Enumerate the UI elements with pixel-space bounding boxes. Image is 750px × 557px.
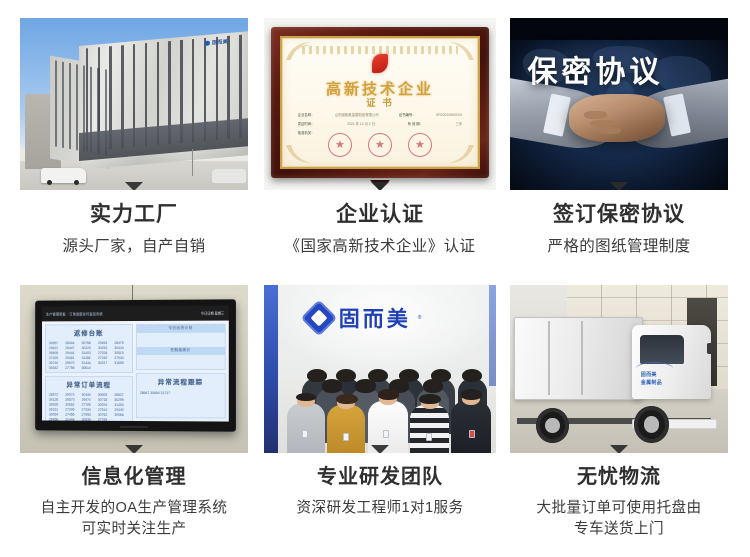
person-hair [336, 394, 357, 404]
feature-subtitle: 源头厂家，自产自销 [20, 236, 248, 258]
oa-cell: 27152 [98, 356, 112, 360]
cab-window [640, 335, 684, 365]
cert-field-label: 发证时间： [298, 120, 315, 129]
oa-cell: 31444 [81, 361, 95, 365]
cert-field-value: 2021 年 12 月 2 日 [347, 120, 375, 129]
oa-right-column: 今日出货计划 在制品统计 异常流程跟踪 28647 30694 31717 [135, 324, 225, 419]
cert-field-value: 山东固而美金属制品有限公司 [335, 111, 379, 120]
person-front [327, 405, 365, 453]
oa-cell: 30317 [98, 361, 112, 365]
oa-cell: 27514 [98, 408, 112, 412]
feature-subtitle: 自主开发的OA生产管理系统 可实时关注生产 [20, 498, 248, 540]
seal-star-icon: ★ [408, 133, 432, 157]
photo-certificate-plaque: 高新技术企业 证 书 企业名称： 山东固而美金属制品有限公司 证书编号： GR2… [264, 18, 496, 190]
photo-team-group: 固而美 ® [264, 285, 496, 453]
oa-panel-title: 异常订单流程 [46, 377, 132, 391]
certificate-subtitle: 证 书 [282, 95, 478, 109]
brand-name-text: 固而美 [339, 303, 411, 333]
wall-monitor-bezel: 生产管理看板 · 订单进度实时监控系统 今日日期 星期三 返修台账 30657 … [35, 299, 235, 431]
oa-header-left: 生产管理看板 · 订单进度实时监控系统 [46, 311, 103, 316]
oa-cell: 27765 [81, 403, 95, 407]
nda-scene: 保密协议 [510, 18, 728, 190]
person-hair [462, 369, 482, 383]
person-hair [423, 379, 443, 393]
oa-cell: 30161 [49, 408, 63, 412]
oa-side-bar: 在制品统计 [136, 347, 224, 355]
oa-panel-rework: 返修台账 30657 28444 30758 29453 28479 29521 [45, 324, 133, 373]
oa-cell: 30519 [114, 351, 129, 355]
oa-panel-side-bottom: 异常流程跟踪 28647 30694 31717 [135, 373, 225, 419]
building-logo: 固而美 [205, 38, 228, 47]
id-badge [469, 430, 475, 438]
photo-wall-monitor-oa: 生产管理看板 · 订单进度实时监控系统 今日日期 星期三 返修台账 30657 … [20, 285, 248, 453]
brand-mark-icon [300, 300, 337, 337]
handshake-hands [569, 94, 665, 142]
person-hair [296, 393, 316, 401]
oa-cell: 30758 [81, 341, 95, 345]
side-mirror [707, 343, 712, 354]
caption-block: 信息化管理 自主开发的OA生产管理系统 可实时关注生产 [20, 453, 248, 540]
seal-star-icon: ★ [368, 133, 392, 157]
feature-title: 实力工厂 [20, 201, 248, 229]
monitor-base [120, 426, 148, 428]
feature-title: 信息化管理 [20, 464, 248, 491]
person-front [287, 403, 325, 453]
monitor-screen: 生产管理看板 · 订单进度实时监控系统 今日日期 星期三 返修台账 30657 … [42, 306, 228, 422]
oa-cell: 30444 [114, 346, 129, 350]
oa-cell: 27955 [81, 413, 95, 417]
oa-cell: 30440 [81, 393, 95, 397]
oa-cell: 30935 [49, 403, 63, 407]
oa-cell: 30253 [98, 346, 112, 350]
wheel-front [634, 406, 669, 443]
person-front [410, 405, 448, 453]
oa-data-grid: 30657 28444 30758 29453 28479 29521 2944… [46, 339, 132, 372]
building-wall-mark: c3 [198, 121, 209, 133]
oa-cell: 31444 [65, 418, 79, 422]
photo-delivery-truck: 固而美 金属制品 [510, 285, 728, 453]
feature-title: 专业研发团队 [264, 464, 496, 491]
certificate-scene: 高新技术企业 证 书 企业名称： 山东固而美金属制品有限公司 证书编号： GR2… [264, 18, 496, 190]
oa-cell: 30054 [49, 413, 63, 417]
oa-cell: 27756 [65, 366, 79, 370]
oa-cell: 30005 [98, 393, 112, 397]
oa-cell: 30342 [49, 366, 63, 370]
oa-cell: 29481 [65, 356, 79, 360]
oa-cell: 28479 [114, 341, 129, 345]
cert-field-value: 三年 [456, 120, 463, 129]
photo-factory-building: 固而美 c3 [20, 18, 248, 190]
person-hair [355, 379, 375, 393]
feature-subtitle: 严格的图纸管理制度 [510, 236, 728, 258]
oa-cell: 30299 [114, 398, 129, 402]
caption-block: 无忧物流 大批量订单可使用托盘由 专车送货上门 [510, 453, 728, 540]
oa-panel-title: 异常流程跟踪 [136, 374, 224, 388]
photo-handshake-nda: 保密协议 [510, 18, 728, 190]
oa-cell: 30539 [81, 418, 95, 422]
person-hair [419, 394, 440, 404]
flame-emblem-icon [372, 54, 388, 73]
person-hair [322, 379, 342, 393]
oa-cell: 29570 [65, 398, 79, 402]
oa-cell: 27769 [98, 418, 112, 422]
oa-monitor-scene: 生产管理看板 · 订单进度实时监控系统 今日日期 星期三 返修台账 30657 … [20, 285, 248, 453]
oa-screen-header: 生产管理看板 · 订单进度实时监控系统 今日日期 星期三 [42, 306, 228, 322]
oa-cell: 29570 [65, 361, 79, 365]
oa-cell: 30204 [98, 403, 112, 407]
oa-cell: 29453 [98, 341, 112, 345]
oa-cell: 27208 [98, 351, 112, 355]
cert-field-value: GR202109632XX [436, 111, 463, 120]
oa-cell: 28572 [49, 393, 63, 397]
oa-cell: 29440 [114, 408, 129, 412]
cert-field-label: 企业名称： [298, 111, 315, 120]
oa-cell: 29521 [49, 346, 63, 350]
certificate-top-band [302, 46, 459, 54]
feature-subtitle: 大批量订单可使用托盘由 专车送货上门 [510, 498, 728, 540]
feature-title: 企业认证 [264, 201, 496, 229]
feature-grid: 固而美 c3 实力工厂 源头厂家，自产自销 [0, 0, 750, 557]
wheel-rear [536, 408, 569, 443]
oa-cell: 29447 [65, 346, 79, 350]
feature-card-strength-factory[interactable]: 固而美 c3 实力工厂 源头厂家，自产自销 [20, 18, 248, 259]
feature-subtitle: 《国家高新技术企业》认证 [264, 236, 496, 258]
oa-cell: 31400 [114, 403, 129, 407]
cert-field-label: 有 效 期： [408, 120, 423, 129]
feature-card-enterprise-certification[interactable]: 高新技术企业 证 书 企业名称： 山东固而美金属制品有限公司 证书编号： GR2… [264, 18, 496, 259]
caption-block: 签订保密协议 严格的图纸管理制度 [510, 190, 728, 259]
certificate-seals: ★ ★ ★ [282, 133, 478, 157]
factory-scene: 固而美 c3 [20, 18, 248, 190]
oa-cell: 29444 [65, 351, 79, 355]
caption-block: 实力工厂 源头厂家，自产自销 [20, 190, 248, 259]
oa-left-column: 返修台账 30657 28444 30758 29453 28479 29521 [45, 324, 133, 418]
oa-cell: 31403 [81, 351, 95, 355]
oa-side-note: 28647 30694 31717 [136, 388, 224, 398]
certificate-stand [370, 180, 390, 190]
oa-cell: 30718 [98, 398, 112, 402]
oa-cell: 30223 [81, 346, 95, 350]
building-logo-text: 固而美 [212, 39, 228, 46]
caption-block: 专业研发团队 资深研发工程师1对1服务 [264, 453, 496, 519]
oa-cell: 31185 [81, 356, 95, 360]
feature-card-logistics[interactable]: 固而美 金属制品 无忧物流 大批量订单可使用托盘由 专车送货上门 [510, 285, 728, 540]
oa-panel-side-top: 今日出货计划 在制品统计 [135, 324, 225, 370]
nda-overlay-text: 保密协议 [527, 47, 663, 91]
oa-cell: 29574 [65, 393, 79, 397]
person-front [451, 401, 492, 453]
oa-header-right: 今日日期 星期三 [200, 311, 224, 316]
certificate-wood-frame: 高新技术企业 证 书 企业名称： 山东固而美金属制品有限公司 证书编号： GR2… [271, 27, 489, 178]
company-logo: 固而美 ® [306, 303, 422, 333]
team-scene: 固而美 ® [264, 285, 496, 453]
id-badge [426, 433, 432, 441]
oa-cell: 30762 [98, 413, 112, 417]
parked-van [41, 168, 87, 183]
id-badge [302, 430, 308, 438]
oa-cell: 31655 [114, 361, 129, 365]
feature-title: 无忧物流 [510, 464, 728, 491]
oa-cell: 27334 [81, 408, 95, 412]
oa-cell: 27325 [49, 356, 63, 360]
person-hair [461, 389, 482, 399]
oa-cell: 28505 [49, 351, 63, 355]
oa-cell: 30740 [49, 361, 63, 365]
person-front [368, 401, 409, 453]
lamp-post [192, 149, 194, 177]
oa-cell: 29474 [81, 398, 95, 402]
oa-screen-body: 返修台账 30657 28444 30758 29453 28479 29521 [42, 321, 228, 422]
seal-star-icon: ★ [328, 133, 352, 157]
oa-cell: 30657 [49, 341, 63, 345]
team-members [271, 349, 496, 453]
person-hair [378, 389, 399, 399]
truck-scene: 固而美 金属制品 [510, 285, 728, 453]
oa-cell: 30614 [81, 366, 95, 370]
certificate-paper: 高新技术企业 证 书 企业名称： 山东固而美金属制品有限公司 证书编号： GR2… [280, 36, 480, 169]
top-vignette [510, 18, 728, 40]
oa-cell: 30562 [65, 403, 79, 407]
truck-door-text: 固而美 金属制品 [641, 372, 662, 387]
oa-panel-title: 返修台账 [46, 325, 132, 339]
oa-data-grid: 28572 29574 30440 30005 28527 30128 2957… [46, 391, 132, 422]
id-badge [383, 430, 389, 438]
oa-cell: 29456 [49, 418, 63, 422]
id-badge [343, 433, 349, 441]
parked-car [212, 169, 246, 183]
caption-block: 企业认证 《国家高新技术企业》认证 [264, 190, 496, 259]
feature-card-rd-team[interactable]: 固而美 ® [264, 285, 496, 519]
oa-cell: 28444 [65, 341, 79, 345]
feature-card-nda-agreement[interactable]: 保密协议 签订保密协议 严格的图纸管理制度 [510, 18, 728, 259]
cert-field-label: 证书编号： [399, 111, 416, 120]
feature-card-information-management[interactable]: 生产管理看板 · 订单进度实时监控系统 今日日期 星期三 返修台账 30657 … [20, 285, 248, 540]
oa-cell: 27044 [114, 356, 129, 360]
oa-panel-exception: 异常订单流程 28572 29574 30440 30005 28527 301… [45, 376, 133, 422]
oa-cell: 27455 [65, 413, 79, 417]
oa-cell: 30966 [114, 413, 129, 417]
truck-cargo-box [514, 317, 642, 400]
oa-cell: 28527 [114, 393, 129, 397]
oa-cell: 30128 [49, 398, 63, 402]
feature-title: 签订保密协议 [510, 201, 728, 229]
feature-subtitle: 资深研发工程师1对1服务 [264, 498, 496, 519]
trademark-symbol: ® [418, 315, 422, 321]
oa-cell: 27295 [65, 408, 79, 412]
